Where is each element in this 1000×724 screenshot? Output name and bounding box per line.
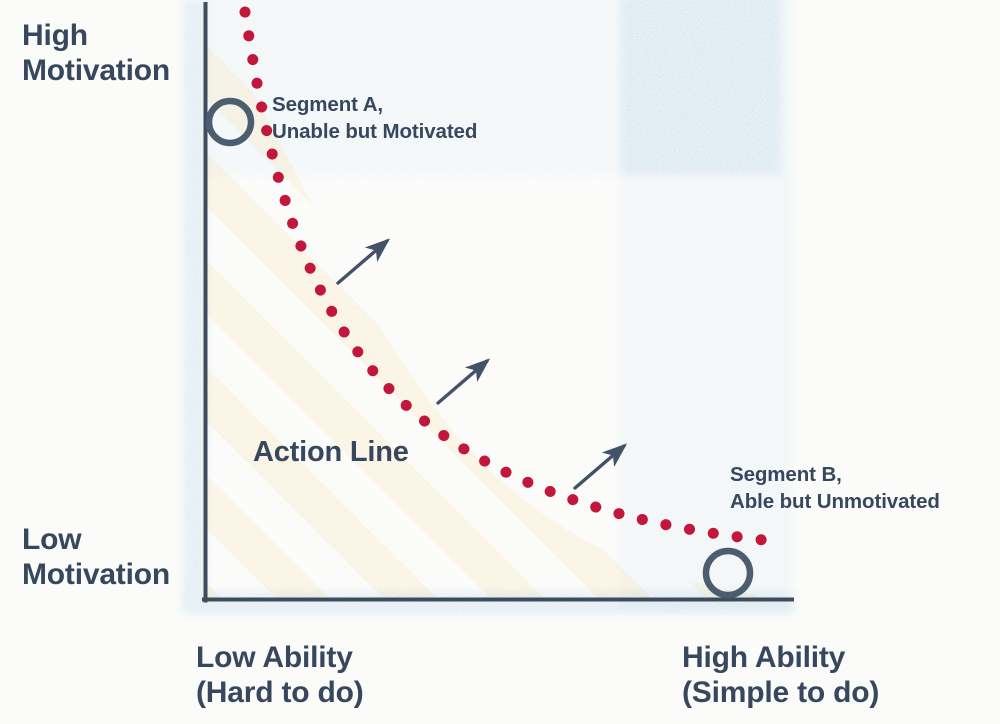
x-axis-low-label: Low Ability (Hard to do) — [196, 640, 364, 711]
segment-b-label: Segment B, Able but Unmotivated — [730, 462, 940, 515]
arrow-3 — [575, 446, 624, 488]
wash-vertical — [183, 0, 207, 606]
action-line-label: Action Line — [253, 436, 409, 469]
wash-horizontal — [183, 592, 793, 614]
segment-a-label: Segment A, Unable but Motivated — [272, 92, 477, 145]
band-intersection-square — [621, 0, 781, 174]
diagram-canvas: High Motivation Low Motivation Low Abili… — [0, 0, 1000, 724]
y-axis-high-label: High Motivation — [22, 18, 170, 89]
arrow-2 — [438, 361, 487, 403]
diagram-graphics — [0, 0, 1000, 724]
x-axis-high-label: High Ability (Simple to do) — [682, 640, 879, 711]
y-axis-low-label: Low Motivation — [22, 522, 170, 593]
arrow-1 — [338, 241, 387, 283]
